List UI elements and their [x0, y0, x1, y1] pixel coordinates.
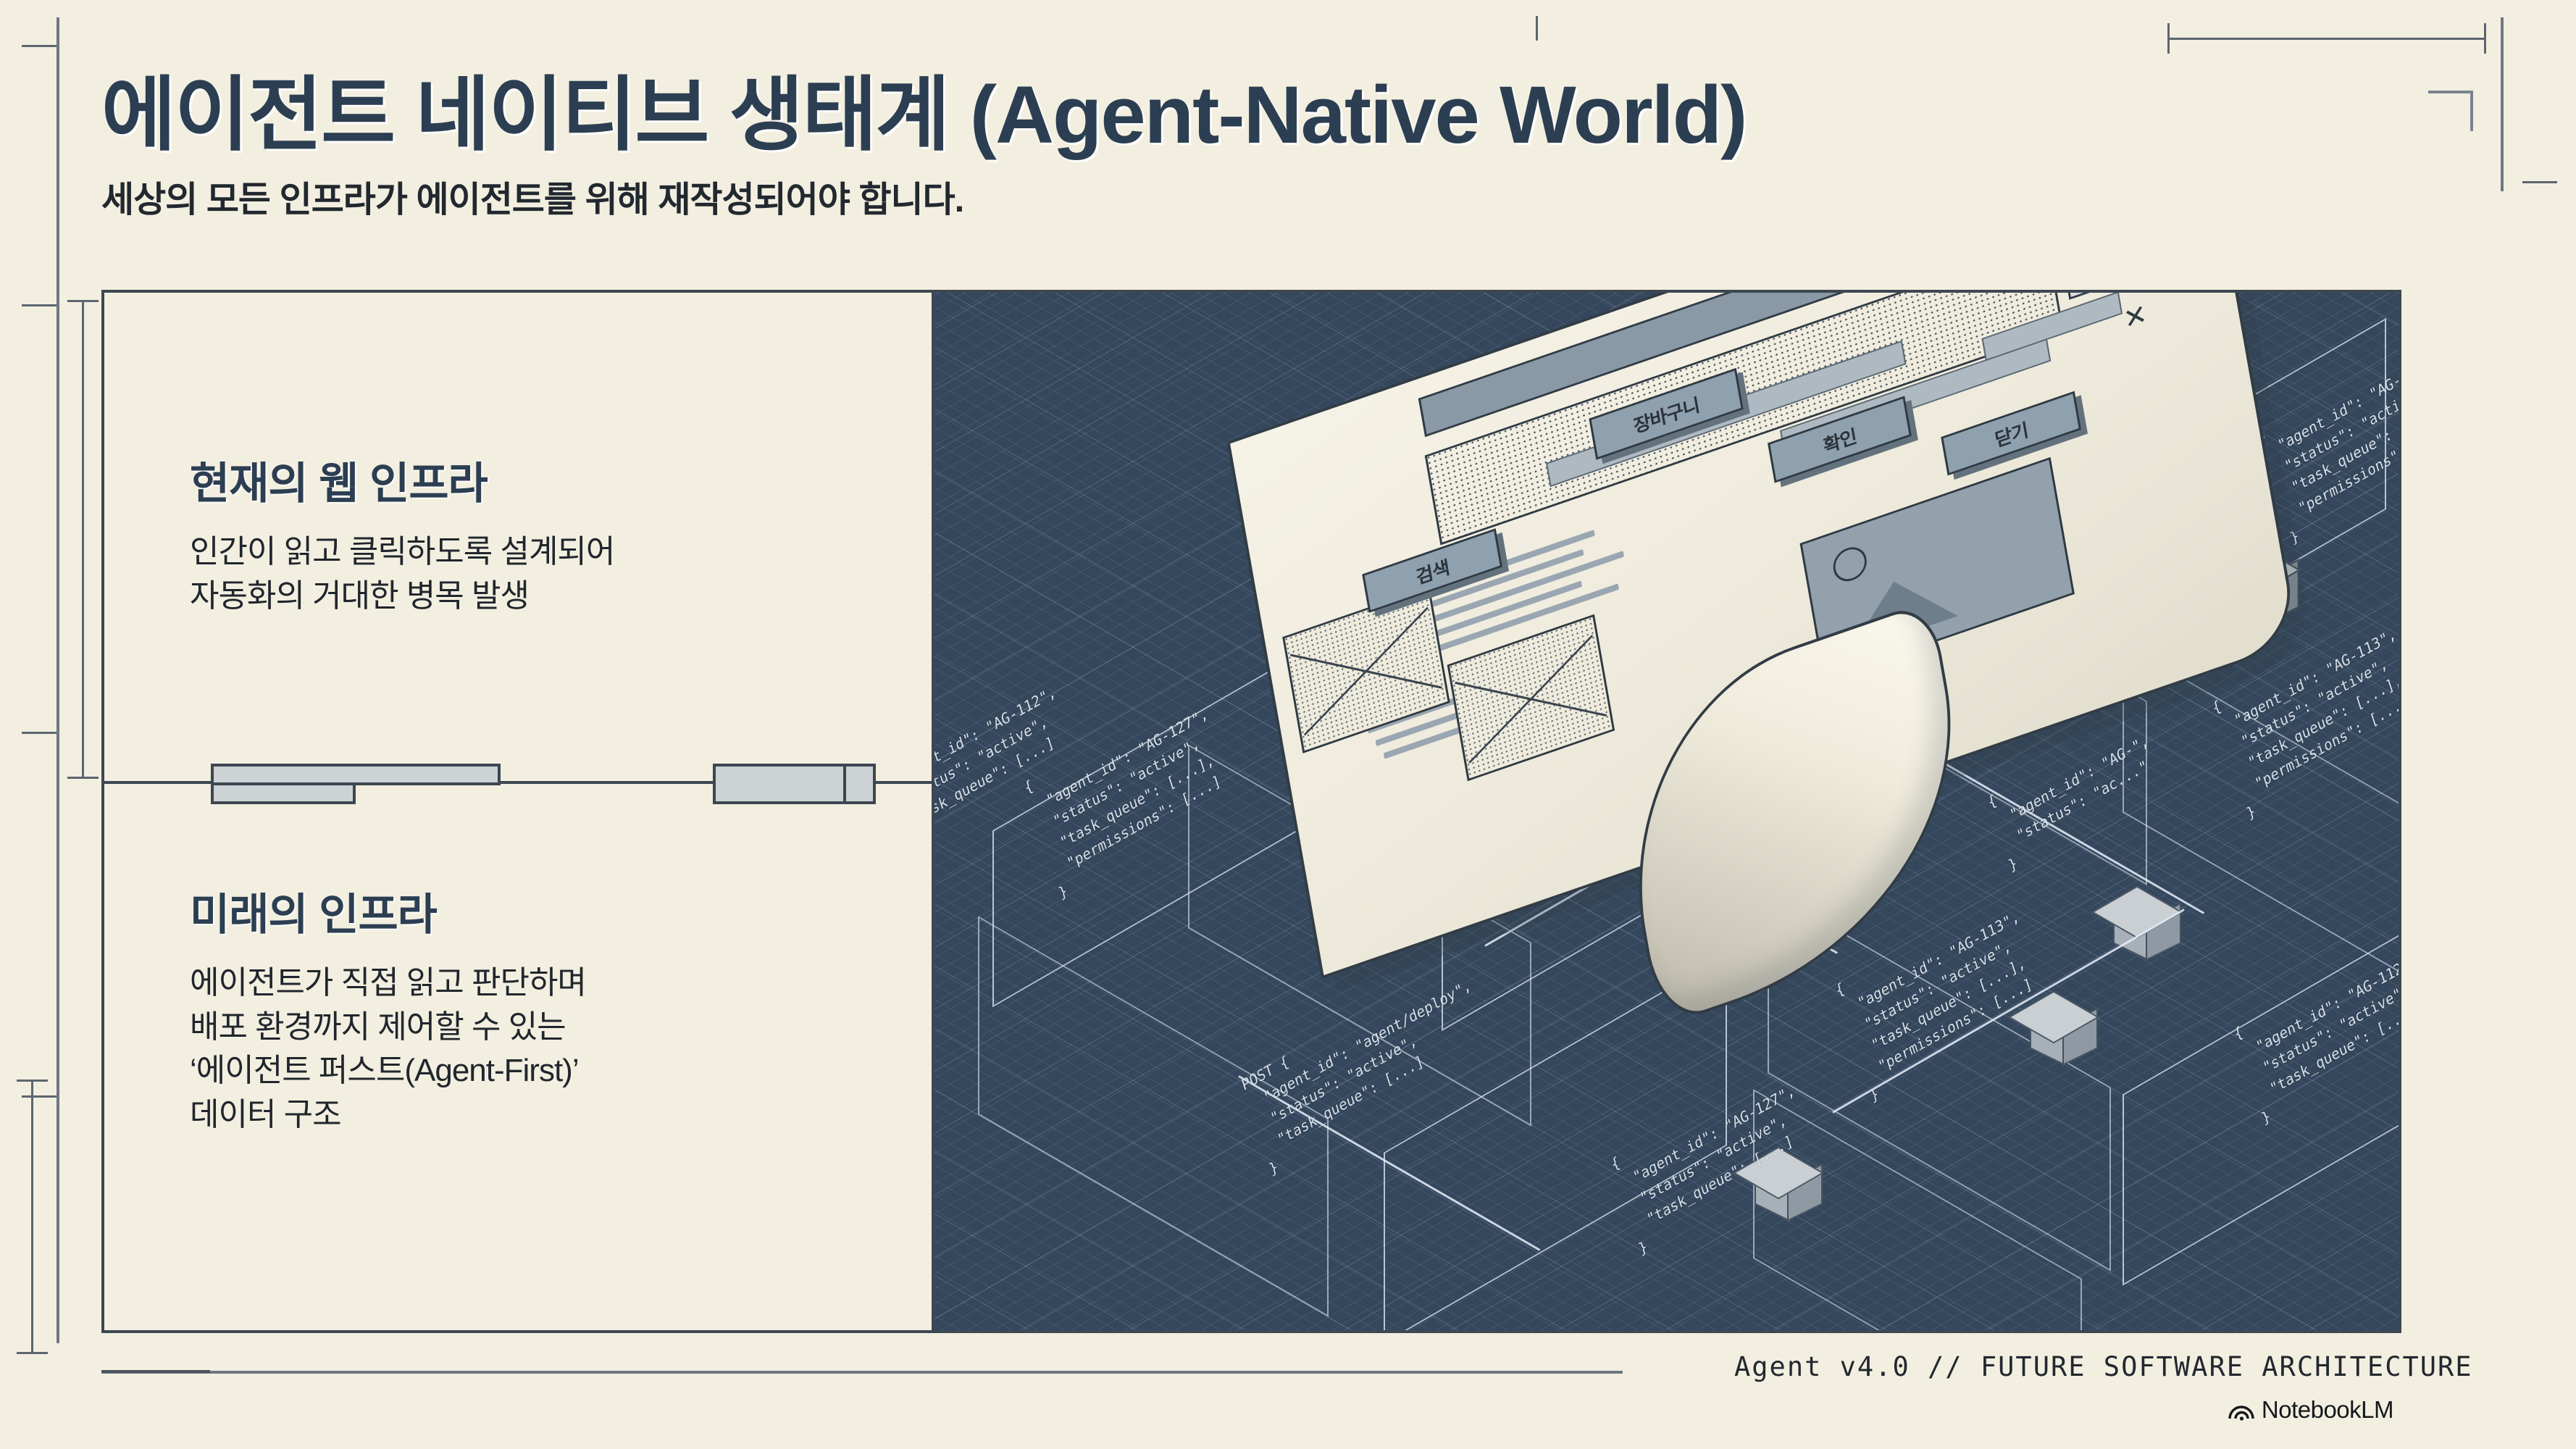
- footer-rule: [101, 1370, 210, 1373]
- panel-body-line: 배포 환경까지 제어할 수 있는: [190, 1006, 885, 1050]
- registration-tick-left-2: [22, 304, 57, 306]
- content-frame: { "agent_id": "AG-127", "status": "activ…: [101, 290, 2401, 1333]
- dimension-arrow-top: [2167, 38, 2486, 40]
- registration-tick-left-1: [22, 45, 57, 47]
- panel-body-line: 인간이 읽고 클릭하도록 설계되어: [190, 530, 885, 575]
- close-icon[interactable]: ✕: [2121, 298, 2149, 336]
- mockup-search-field[interactable]: [2062, 293, 2186, 300]
- panel-body-line: 데이터 구조: [190, 1093, 885, 1137]
- panel-body-line: 자동화의 거대한 병목 발생: [190, 575, 885, 619]
- notebooklm-logo-icon: [2228, 1399, 2254, 1421]
- poster-footer: Agent v4.0 // FUTURE SOFTWARE ARCHITECTU…: [101, 1351, 2405, 1402]
- poster-canvas: 에이전트 네이티브 생태계 (Agent-Native World) 세상의 모…: [0, 0, 2576, 1449]
- panel-title: 미래의 인프라: [190, 880, 885, 943]
- left-text-column: 현재의 웹 인프라 인간이 읽고 클릭하도록 설계되어 자동화의 거대한 병목 …: [104, 293, 934, 1330]
- notebooklm-brand: NotebookLM: [2228, 1396, 2393, 1424]
- frame-line-left: [57, 17, 59, 1343]
- dimension-arrow-panel-one: [82, 300, 84, 778]
- ui-mockup-sheet: 장바구니 확인 닫기 검색 ✕: [1246, 293, 2399, 1082]
- registration-tick-left-4: [22, 1095, 57, 1098]
- dimension-arrow-panel-two: [31, 1080, 33, 1353]
- panel-body-line: 에이전트가 직접 읽고 판단하며: [190, 961, 885, 1006]
- footer-caption: Agent v4.0 // FUTURE SOFTWARE ARCHITECTU…: [1734, 1351, 2473, 1382]
- mockup-button-close[interactable]: 닫기: [1941, 391, 2081, 476]
- panel-title: 현재의 웹 인프라: [190, 448, 885, 511]
- panel-current-web: 현재의 웹 인프라 인간이 읽고 클릭하도록 설계되어 자동화의 거대한 병목 …: [190, 448, 885, 618]
- corner-mark-topright: [2428, 91, 2473, 131]
- panel-body-line: ‘에이전트 퍼스트(Agent-First)’: [190, 1049, 885, 1093]
- poster-header: 에이전트 네이티브 생태계 (Agent-Native World) 세상의 모…: [101, 72, 2405, 222]
- registration-tick-right: [2522, 181, 2557, 183]
- dimension-cap-right: [2484, 23, 2486, 54]
- blueprint-scene: { "agent_id": "AG-127", "status": "activ…: [934, 293, 2399, 1330]
- dimension-cap-p1-top: [67, 300, 99, 302]
- registration-tick-left-3: [22, 732, 57, 734]
- panel-body: 인간이 읽고 클릭하도록 설계되어 자동화의 거대한 병목 발생: [190, 530, 885, 618]
- notebooklm-wordmark: NotebookLM: [2262, 1396, 2393, 1424]
- page-title: 에이전트 네이티브 생태계 (Agent-Native World): [101, 72, 2405, 158]
- page-subtitle: 세상의 모든 인프라가 에이전트를 위해 재작성되어야 합니다.: [101, 171, 2405, 222]
- divider-block-left-ext: [211, 764, 501, 785]
- panel-future-infra: 미래의 인프라 에이전트가 직접 읽고 판단하며 배포 환경까지 제어할 수 있…: [190, 880, 885, 1137]
- frame-line-right: [2501, 17, 2504, 191]
- dimension-cap-left: [2167, 23, 2170, 54]
- registration-tick-top: [1536, 16, 1538, 41]
- panel-body: 에이전트가 직접 읽고 판단하며 배포 환경까지 제어할 수 있는 ‘에이전트 …: [190, 961, 885, 1137]
- dimension-cap-p2-top: [17, 1080, 48, 1082]
- dimension-cap-p1-bottom: [67, 777, 99, 779]
- divider-block-right-tab: [843, 764, 876, 804]
- dimension-cap-p2-bottom: [17, 1352, 48, 1354]
